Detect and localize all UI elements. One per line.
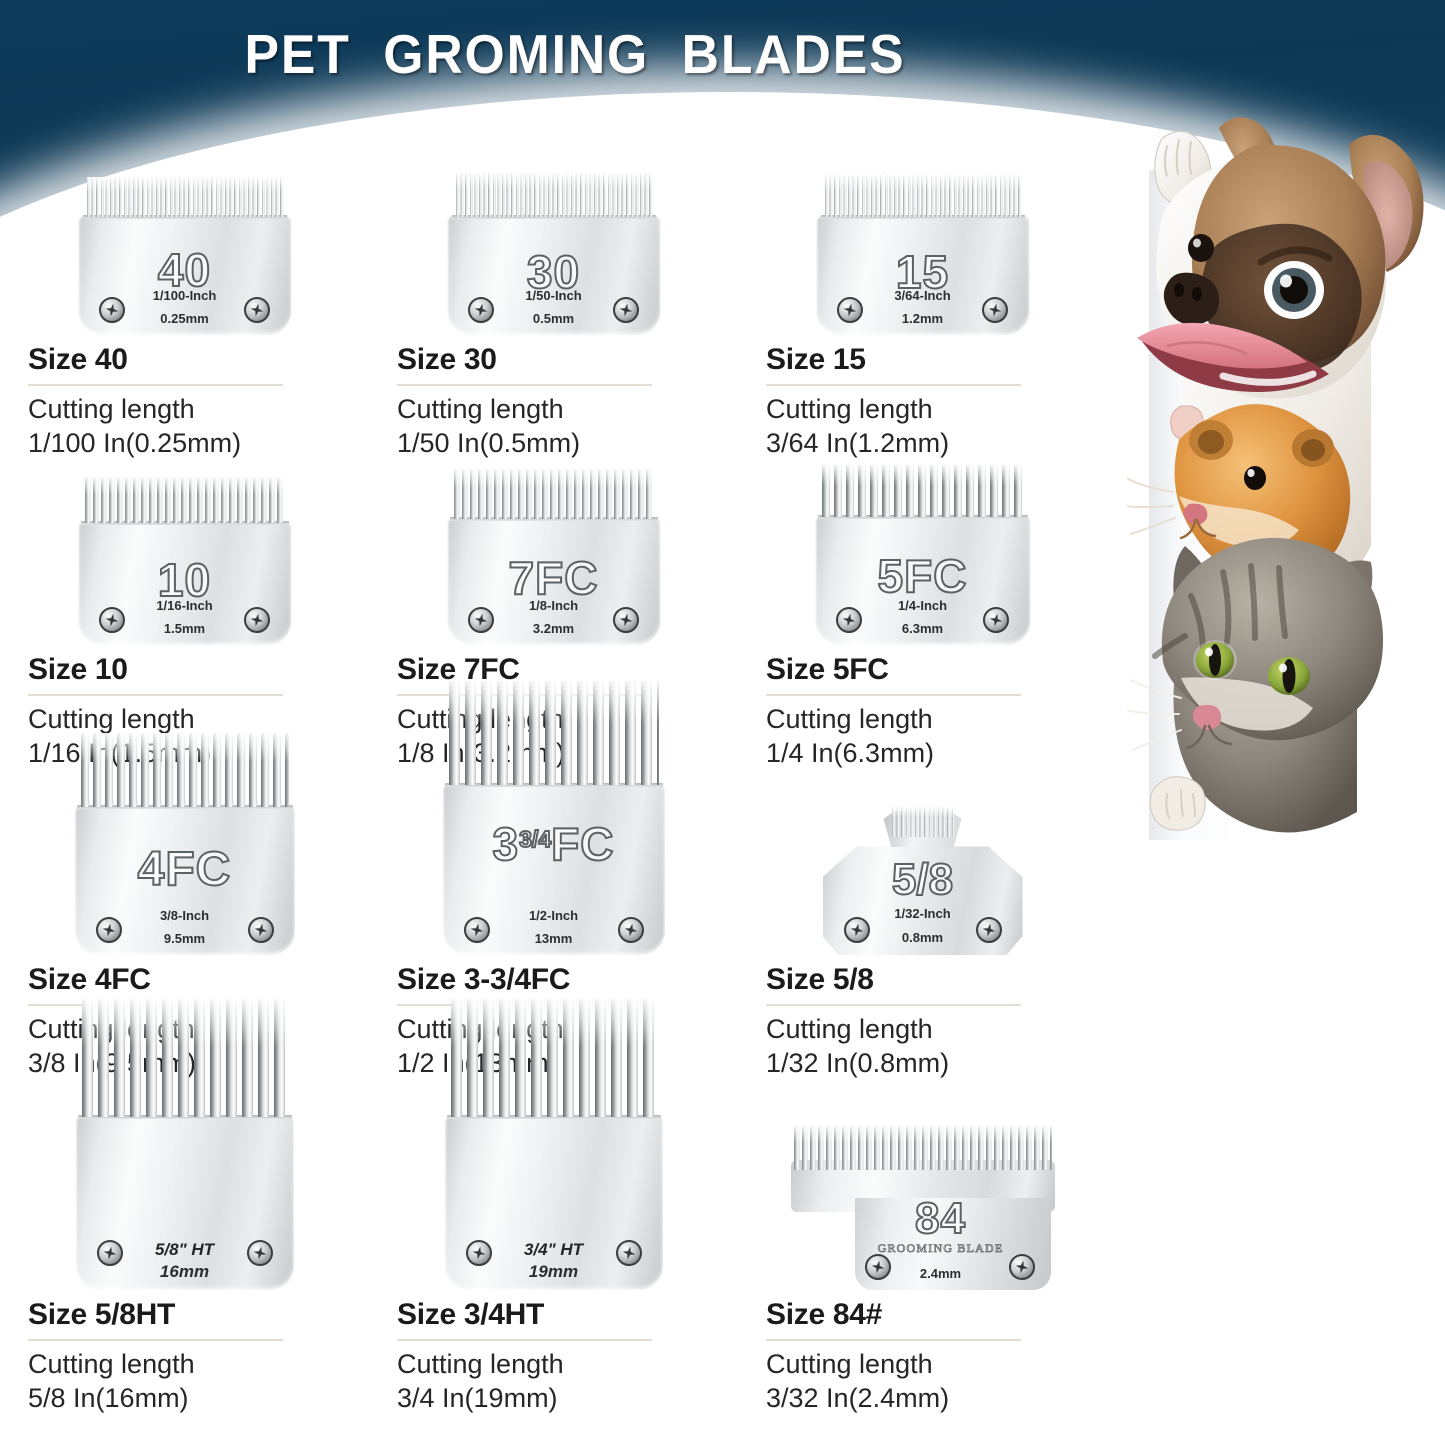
blade-caption-title: Size 5FC [766,653,1107,687]
caption-divider [766,694,1021,696]
cutting-length-label: Cutting length [28,393,369,427]
blade-screw [844,917,870,943]
blade-caption: Size 30Cutting length1/50 In(0.5mm) [369,343,738,461]
blade-engraved-inch: 1/8-Inch [369,598,738,613]
blade-image: 301/50-Inch0.5mm [369,150,738,335]
caption-divider [397,384,652,386]
blade-screw [244,607,270,633]
caption-divider [28,1339,283,1341]
blade-screw [99,297,125,323]
blade-image: 33/4FC1/2-Inch13mm [369,770,738,955]
blade-engraved-inch: 3/8-Inch [0,908,369,923]
blade-screw [99,607,125,633]
blade-teeth [82,999,288,1117]
blade-caption-title: Size 3/4HT [397,1298,738,1332]
blade-screw [613,607,639,633]
blade-teeth [87,177,283,217]
blade-screw [837,297,863,323]
blade-screw [468,607,494,633]
blade-screw [982,297,1008,323]
blade-engraved-number: 4FC [0,842,369,897]
blade-caption: Size 3/4HTCutting length3/4 In(19mm) [369,1298,738,1416]
page-title: PET GROMING BLADES [35,22,1116,86]
caption-divider [766,1339,1021,1341]
blade-card[interactable]: 84GROOMING BLADE2.4mmSize 84#Cutting len… [738,1105,1107,1416]
blade-image: 5FC1/4-Inch6.3mm [738,460,1107,645]
cutting-length-value: 3/4 In(19mm) [397,1382,738,1416]
blade-engraved-mm: 1.2mm [738,311,1107,326]
cutting-length-label: Cutting length [766,1013,1107,1047]
blade-engraved-brandline: GROOMING BLADE [774,1241,1107,1256]
caption-divider [397,1339,652,1341]
blade-screw [97,1240,123,1266]
caption-divider [766,1004,1021,1006]
pet-photo-group [1127,110,1445,840]
blade-teeth [794,1126,1052,1170]
blade-caption-title: Size 3-3/4FC [397,963,738,997]
caption-divider [28,694,283,696]
blade-engraved-mm: 0.25mm [0,311,369,326]
blade-engraved-mm: 13mm [369,931,738,946]
blade-screw [616,1240,642,1266]
cutting-length-label: Cutting length [397,393,738,427]
cutting-length-value: 1/50 In(0.5mm) [397,427,738,461]
blade-screw [468,297,494,323]
blade-teeth [822,465,1024,517]
blade-card[interactable]: 301/50-Inch0.5mmSize 30Cutting length1/5… [369,150,738,461]
blade-engraved-inch: 1/4-Inch [738,598,1107,613]
blade-screw [466,1240,492,1266]
blade-teeth [892,807,954,837]
blade-image: 101/16-Inch1.5mm [0,460,369,645]
blade-teeth [456,173,652,217]
cutting-length-label: Cutting length [28,1348,369,1382]
cutting-length-label: Cutting length [766,1348,1107,1382]
blade-engraved-inch: 1/2-Inch [369,908,738,923]
blade-engraved-mm: 19mm [369,1262,738,1282]
blade-screw [1009,1254,1035,1280]
blade-screw [464,917,490,943]
blade-teeth [449,681,659,785]
blade-engraved-mm: 16mm [0,1262,369,1282]
cutting-length-label: Cutting length [766,703,1107,737]
blade-teeth [825,175,1021,217]
blade-engraved-number: 33/4FC [369,817,738,871]
blade-screw [836,607,862,633]
blade-card[interactable]: 5/81/32-Inch0.8mmSize 5/8Cutting length1… [738,770,1107,1081]
cutting-length-value: 1/32 In(0.8mm) [766,1047,1107,1081]
blade-caption-title: Size 5/8 [766,963,1107,997]
blade-caption-title: Size 10 [28,653,369,687]
blade-engraved-mm: 2.4mm [774,1266,1107,1281]
blade-engraved-mm: 0.8mm [738,930,1107,945]
blade-screw [248,917,274,943]
cutting-length-value: 3/64 In(1.2mm) [766,427,1107,461]
blade-engraved-inline: 3/4" HT [369,1240,738,1260]
blade-grid: 401/100-Inch0.25mmSize 40Cutting length1… [0,150,1100,1429]
blade-card[interactable]: 5FC1/4-Inch6.3mmSize 5FCCutting length1/… [738,460,1107,771]
cutting-length-label: Cutting length [766,393,1107,427]
blade-caption: Size 5/8Cutting length1/32 In(0.8mm) [738,963,1107,1081]
blade-caption: Size 84#Cutting length3/32 In(2.4mm) [738,1298,1107,1416]
blade-engraved-mm: 9.5mm [0,931,369,946]
blade-engraved-number: 7FC [369,551,738,605]
blade-card[interactable]: 3/4" HT19mmSize 3/4HTCutting length3/4 I… [369,1105,738,1416]
blade-teeth [81,733,289,807]
blade-image: 84GROOMING BLADE2.4mm [738,1105,1107,1290]
blade-screw [247,1240,273,1266]
blade-engraved-mm: 6.3mm [738,621,1107,636]
blade-engraved-inline: 5/8" HT [0,1240,369,1260]
cutting-length-label: Cutting length [28,703,369,737]
blade-screw [983,607,1009,633]
caption-divider [28,384,283,386]
blade-engraved-inch: 1/32-Inch [738,906,1107,921]
blade-card[interactable]: 153/64-Inch1.2mmSize 15Cutting length3/6… [738,150,1107,461]
blade-caption-title: Size 15 [766,343,1107,377]
blade-engraved-mm: 1.5mm [0,621,369,636]
blade-screw [96,917,122,943]
blade-image: 4FC3/8-Inch9.5mm [0,770,369,955]
pets-illustration [1127,110,1445,840]
blade-caption-title: Size 84# [766,1298,1107,1332]
blade-screw [618,917,644,943]
cutting-length-label: Cutting length [397,1348,738,1382]
blade-engraved-inch: 1/100-Inch [0,288,369,303]
blade-image: 5/81/32-Inch0.8mm [738,770,1107,955]
cutting-length-value: 1/100 In(0.25mm) [28,427,369,461]
caption-divider [766,384,1021,386]
blade-teeth [85,477,285,523]
cutting-length-value: 5/8 In(16mm) [28,1382,369,1416]
blade-screw [613,297,639,323]
blade-engraved-fraction: 3/4 [519,826,551,853]
blade-caption-title: Size 30 [397,343,738,377]
cutting-length-value: 1/4 In(6.3mm) [766,737,1107,771]
blade-engraved-number: 5/8 [738,855,1107,905]
blade-engraved-number: 5FC [738,549,1107,603]
blade-screw [244,297,270,323]
blade-card[interactable]: 401/100-Inch0.25mmSize 40Cutting length1… [0,150,369,461]
blade-image: 401/100-Inch0.25mm [0,150,369,335]
blade-engraved-mm: 3.2mm [369,621,738,636]
blade-caption: Size 15Cutting length3/64 In(1.2mm) [738,343,1107,461]
blade-card[interactable]: 101/16-Inch1.5mmSize 10Cutting length1/1… [0,460,369,771]
blade-image: 7FC1/8-Inch3.2mm [369,460,738,645]
blade-screw [976,917,1002,943]
blade-caption-title: Size 5/8HT [28,1298,369,1332]
blade-caption-title: Size 40 [28,343,369,377]
blade-caption: Size 40Cutting length1/100 In(0.25mm) [0,343,369,461]
blade-caption: Size 5FCCutting length1/4 In(6.3mm) [738,653,1107,771]
blade-engraved-inch: 1/16-Inch [0,598,369,613]
blade-caption-title: Size 4FC [28,963,369,997]
blade-engraved-mm: 0.5mm [369,311,738,326]
blade-image: 153/64-Inch1.2mm [738,150,1107,335]
blade-engraved-inch: 1/50-Inch [369,288,738,303]
blade-caption: Size 5/8HTCutting length5/8 In(16mm) [0,1298,369,1416]
blade-teeth [451,999,657,1117]
blade-engraved-inch: 3/64-Inch [738,288,1107,303]
blade-engraved-number: 84 [774,1194,1107,1244]
cutting-length-value: 3/32 In(2.4mm) [766,1382,1107,1416]
blade-image: 5/8" HT16mm [0,1105,369,1290]
blade-image: 3/4" HT19mm [369,1105,738,1290]
blade-card[interactable]: 5/8" HT16mmSize 5/8HTCutting length5/8 I… [0,1105,369,1416]
blade-screw [865,1254,891,1280]
blade-teeth [454,469,654,519]
